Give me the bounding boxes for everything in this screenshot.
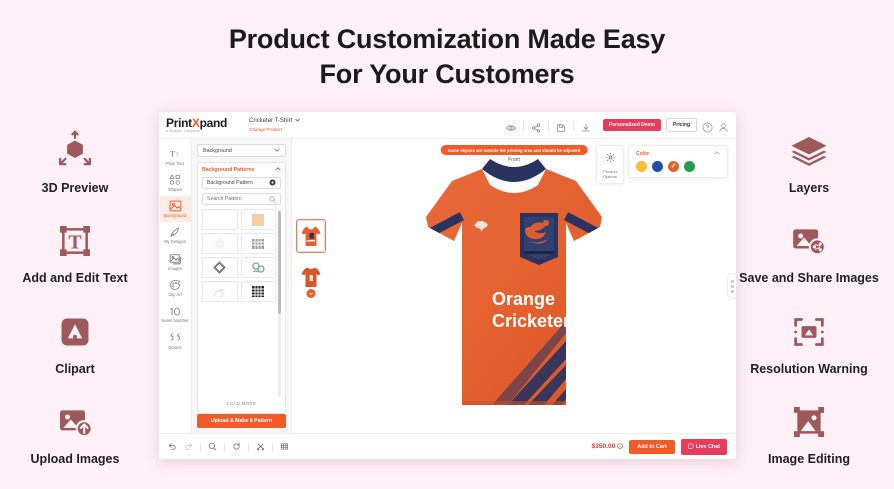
account-icon[interactable]: [718, 120, 729, 131]
feature-label: 3D Preview: [0, 181, 150, 196]
product-options-label: Product Options: [597, 170, 623, 180]
feature-upload-images: Upload Images: [0, 399, 150, 467]
search-icon[interactable]: [269, 190, 276, 208]
color-label: Color: [636, 151, 649, 157]
help-icon[interactable]: [702, 120, 713, 131]
add-to-cart-button[interactable]: Add to Cart: [629, 440, 674, 454]
live-chat-label: Live Chat: [696, 444, 720, 450]
panel-drag-handle[interactable]: [727, 273, 736, 299]
headline-line-2: For Your Customers: [0, 57, 894, 92]
logo-tagline: A Biztech Company: [166, 130, 227, 133]
gear-icon: [605, 150, 616, 167]
pattern-thumb[interactable]: [202, 233, 238, 254]
logo-text: PrintXpand: [166, 117, 227, 129]
rail-item-my-designs[interactable]: My Designs: [160, 222, 191, 248]
pattern-thumb[interactable]: [202, 257, 238, 278]
add-edit-text-icon: T: [52, 218, 98, 264]
my-designs-icon: [160, 226, 191, 239]
design-tool-window: PrintXpand A Biztech Company Cricketer T…: [159, 112, 736, 459]
back-view-badge[interactable]: [307, 289, 316, 298]
rail-item-shapes[interactable]: Shapes: [160, 169, 191, 195]
chat-icon: [688, 443, 694, 451]
feature-3d-preview: 3D Preview: [0, 128, 150, 196]
divider: [548, 121, 549, 130]
change-product-link[interactable]: Change Product: [249, 127, 300, 132]
background-icon: [160, 200, 191, 213]
header-right-buttons: Personalized Demo Pricing: [603, 118, 729, 132]
chevron-up-icon[interactable]: [714, 151, 720, 157]
pattern-type-value: Background Pattern: [207, 180, 253, 186]
divider: [523, 121, 524, 130]
chest-emblem: [520, 213, 558, 265]
feature-add-edit-text: T Add and Edit Text: [0, 218, 150, 286]
quotes-icon: [160, 331, 191, 344]
images-icon: [160, 252, 191, 265]
name-number-icon: [160, 305, 191, 318]
feature-list-right: Layers Save and Share: [734, 128, 884, 489]
thumbnail-back[interactable]: [296, 260, 326, 294]
feature-clipart: Clipart: [0, 309, 150, 377]
download-icon[interactable]: [581, 120, 591, 130]
rail-label: My Designs: [160, 240, 191, 245]
svg-text:T: T: [170, 149, 176, 159]
shirt-stage[interactable]: Orange Cricketer: [292, 139, 736, 433]
app-body: T! Plain Text Shapes Background: [159, 139, 736, 433]
header-action-icons: [506, 120, 591, 130]
rail-item-name-number[interactable]: Name Number: [160, 301, 191, 327]
rail-label: Plain Text: [160, 162, 191, 167]
price-value: $350.00: [592, 443, 616, 450]
footer-right: $350.00 Add to Cart Live Chat: [592, 439, 727, 455]
color-swatch-blue[interactable]: [652, 161, 663, 172]
3d-preview-icon: [52, 128, 98, 174]
product-selector[interactable]: Cricketer T-Shirt Change Product: [249, 118, 300, 131]
clipart-icon: [52, 309, 98, 355]
save-share-images-icon: [786, 218, 832, 264]
plain-text-icon: T!: [160, 147, 191, 160]
feature-label: Add and Edit Text: [0, 271, 150, 286]
load-more-link[interactable]: LOAD MORE: [202, 397, 281, 409]
feature-label: Layers: [734, 181, 884, 196]
feature-label: Image Editing: [734, 452, 884, 467]
shapes-icon: [160, 173, 191, 186]
price-display: $350.00: [592, 443, 624, 451]
crop-icon[interactable]: [256, 438, 265, 456]
rail-label: Clip Art: [160, 293, 191, 298]
feature-label: Clipart: [0, 362, 150, 377]
reset-icon[interactable]: [232, 438, 241, 456]
price-info-icon[interactable]: [617, 443, 623, 451]
landing-page: Product Customization Made Easy For Your…: [0, 0, 894, 486]
shirt-text-line1: Orange: [492, 289, 555, 309]
redo-icon[interactable]: [184, 438, 193, 456]
rail-label: Shapes: [160, 188, 191, 193]
view-thumbnails: [296, 219, 326, 301]
page-title: Product Customization Made Easy For Your…: [0, 22, 894, 91]
divider: [224, 443, 225, 451]
resolution-warning-icon: [786, 309, 832, 355]
live-chat-button[interactable]: Live Chat: [681, 439, 727, 455]
app-header: PrintXpand A Biztech Company Cricketer T…: [159, 112, 736, 139]
rail-item-background[interactable]: Background: [160, 196, 191, 222]
printing-area-warning: Some objects are outside the printing ar…: [441, 145, 588, 155]
pattern-thumb[interactable]: [241, 209, 277, 230]
design-canvas[interactable]: Some objects are outside the printing ar…: [292, 139, 736, 433]
feature-label: Resolution Warning: [734, 362, 884, 377]
rail-item-quotes[interactable]: Quotes: [160, 327, 191, 353]
upload-make-pattern-button[interactable]: Upload & Make it Pattern: [197, 414, 286, 428]
rail-label: Background: [160, 214, 191, 219]
background-patterns-section: Background Patterns Background Pattern: [197, 162, 286, 414]
product-name: Cricketer T-Shirt: [249, 118, 292, 125]
search-input[interactable]: [207, 196, 269, 202]
svg-text:T: T: [68, 232, 82, 254]
pattern-grid-wrapper: [202, 209, 281, 397]
zoom-icon[interactable]: [208, 438, 217, 456]
printxpand-logo[interactable]: PrintXpand A Biztech Company: [166, 117, 227, 134]
feature-list-left: 3D Preview T Add and Edit Text: [0, 128, 150, 489]
divider: [248, 443, 249, 451]
share-icon[interactable]: [531, 120, 541, 130]
pricing-button[interactable]: Pricing: [666, 118, 697, 132]
personalized-demo-button[interactable]: Personalized Demo: [603, 119, 661, 131]
rail-item-images[interactable]: Images: [160, 248, 191, 274]
app-footer: $350.00 Add to Cart Live Chat: [159, 433, 736, 459]
background-type-value: Background: [203, 148, 232, 154]
pattern-scrollbar[interactable]: [278, 209, 281, 397]
background-patterns-header[interactable]: Background Patterns: [202, 167, 281, 173]
grid-icon[interactable]: [280, 438, 289, 456]
save-icon[interactable]: [556, 120, 566, 130]
preview-eye-icon[interactable]: [506, 120, 516, 130]
radio-selected-icon: [269, 179, 276, 188]
feature-layers: Layers: [734, 128, 884, 196]
pattern-thumb[interactable]: [241, 257, 277, 278]
pattern-thumb[interactable]: [241, 233, 277, 254]
upload-images-icon: [52, 399, 98, 445]
image-editing-icon: [786, 399, 832, 445]
pattern-thumb[interactable]: [241, 281, 277, 302]
rail-label: Quotes: [160, 346, 191, 351]
rail-item-plain-text[interactable]: T! Plain Text: [160, 143, 191, 169]
layers-icon: [786, 128, 832, 174]
color-swatches: [636, 161, 720, 172]
feature-save-share-images: Save and Share Images: [734, 218, 884, 286]
pattern-grid: [202, 209, 276, 397]
divider: [200, 443, 201, 451]
rail-label: Name Number: [160, 319, 191, 324]
tshirt-preview[interactable]: Orange Cricketer: [416, 155, 612, 417]
chevron-down-icon: [274, 148, 280, 154]
divider: [573, 121, 574, 130]
feature-resolution-warning: Resolution Warning: [734, 309, 884, 377]
pattern-thumb[interactable]: [202, 281, 238, 302]
canvas-side-label: Front: [508, 157, 520, 163]
color-swatch-green[interactable]: [684, 161, 695, 172]
divider: [272, 443, 273, 451]
shirt-text-line2: Cricketer: [492, 311, 570, 331]
feature-label: Upload Images: [0, 452, 150, 467]
chevron-up-icon[interactable]: [275, 167, 281, 173]
chevron-down-icon: [295, 118, 300, 125]
undo-icon[interactable]: [168, 438, 177, 456]
feature-label: Save and Share Images: [734, 271, 884, 286]
rail-item-clip-art[interactable]: Clip Art: [160, 275, 191, 301]
color-panel-header[interactable]: Color: [636, 151, 720, 157]
svg-text:!: !: [176, 152, 178, 159]
product-name-row[interactable]: Cricketer T-Shirt: [249, 118, 300, 125]
rail-label: Images: [160, 267, 191, 272]
product-options-button[interactable]: Product Options: [596, 145, 624, 184]
color-picker-panel: Color: [628, 145, 728, 178]
section-title: Background Patterns: [202, 167, 254, 173]
background-type-select[interactable]: Background: [197, 144, 286, 157]
color-swatch-yellow[interactable]: [636, 161, 647, 172]
clip-art-icon: [160, 279, 191, 292]
pattern-type-select[interactable]: Background Pattern: [202, 177, 281, 189]
search-pattern-field[interactable]: [202, 193, 281, 205]
thumbnail-front[interactable]: [296, 219, 326, 253]
feature-image-editing: Image Editing: [734, 399, 884, 467]
headline-line-1: Product Customization Made Easy: [0, 22, 894, 57]
scrollbar-thumb[interactable]: [278, 211, 281, 314]
footer-tools: [168, 438, 289, 456]
tool-rail: T! Plain Text Shapes Background: [159, 139, 192, 433]
pattern-thumb[interactable]: [202, 209, 238, 230]
background-panel: Background Background Patterns Backgroun…: [192, 139, 292, 433]
color-swatch-orange[interactable]: [668, 161, 679, 172]
